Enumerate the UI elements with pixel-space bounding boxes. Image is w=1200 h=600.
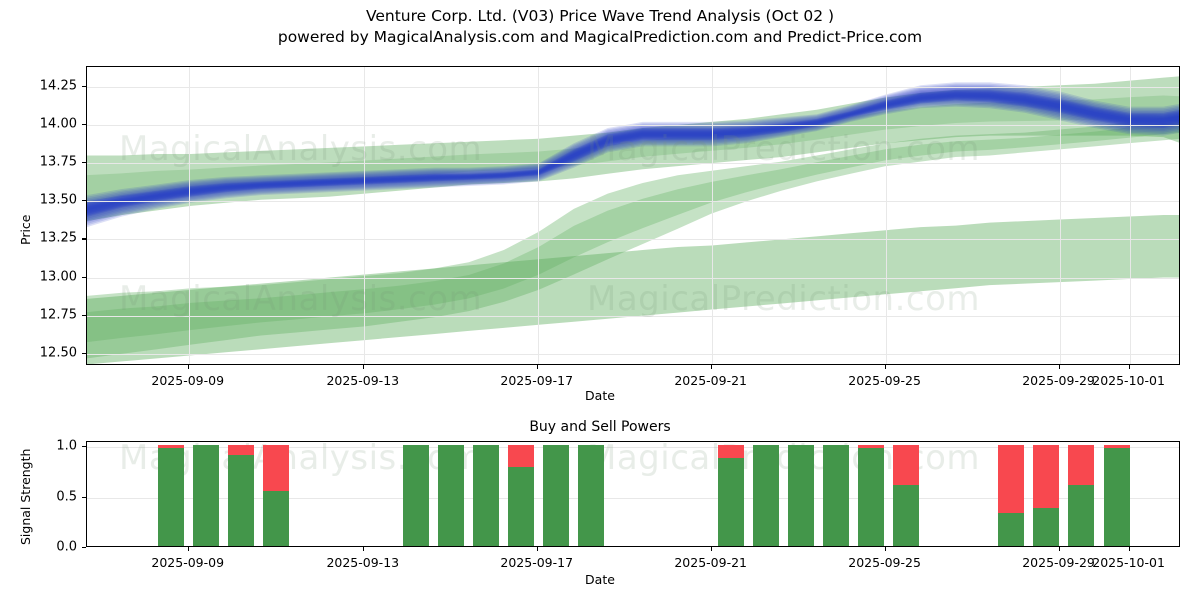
bar-buy-segment[interactable] [858, 448, 884, 546]
price-xtick-label: 2025-09-29 [1022, 373, 1095, 388]
bars-axis-y-title: Signal Strength [18, 449, 33, 545]
bars-ytick-label: 1.0 [56, 439, 77, 454]
bar-sell-segment[interactable] [263, 445, 289, 490]
bar-buy-segment[interactable] [1033, 508, 1059, 546]
price-xtick-mark [1059, 365, 1060, 369]
bar-buy-segment[interactable] [788, 445, 814, 546]
gridline-vertical [364, 67, 365, 364]
price-wave-bands [87, 67, 1180, 365]
screenshot-root: Venture Corp. Ltd. (V03) Price Wave Tren… [0, 0, 1200, 600]
gridline-vertical [189, 67, 190, 364]
price-axis-y-title: Price [18, 215, 33, 246]
bar-group[interactable] [1068, 442, 1094, 546]
bar-group[interactable] [578, 442, 604, 546]
gridline-vertical [1130, 67, 1131, 364]
gridline-horizontal [87, 201, 1179, 202]
price-ytick-label: 14.25 [40, 78, 77, 93]
price-ytick-label: 13.50 [40, 193, 77, 208]
bars-ytick-label: 0.5 [56, 489, 77, 504]
bars-xtick-mark [711, 547, 712, 551]
bars-xtick-label: 2025-09-29 [1022, 555, 1095, 570]
bars-xtick-mark [188, 547, 189, 551]
gridline-horizontal [87, 125, 1179, 126]
bar-buy-segment[interactable] [718, 458, 744, 546]
bars-xtick-label: 2025-09-13 [326, 555, 399, 570]
bar-group[interactable] [753, 442, 779, 546]
gridline-vertical [712, 67, 713, 364]
bar-buy-segment[interactable] [193, 445, 219, 546]
bar-group[interactable] [823, 442, 849, 546]
bar-group[interactable] [543, 442, 569, 546]
bar-sell-segment[interactable] [1104, 445, 1130, 448]
bar-group[interactable] [1104, 442, 1130, 546]
bar-sell-segment[interactable] [858, 445, 884, 448]
price-xtick-mark [885, 365, 886, 369]
bar-sell-segment[interactable] [1033, 445, 1059, 508]
bars-xtick-label: 2025-09-09 [151, 555, 224, 570]
bars-xtick-mark [1059, 547, 1060, 551]
buy-sell-plot-area: MagicalAnalysis.com MagicalPrediction.co… [86, 441, 1180, 547]
gridline-horizontal [87, 163, 1179, 164]
gridline-horizontal [87, 354, 1179, 355]
bar-group[interactable] [403, 442, 429, 546]
bars-xtick-mark [363, 547, 364, 551]
bar-buy-segment[interactable] [893, 485, 919, 546]
bar-sell-segment[interactable] [893, 445, 919, 485]
bar-group[interactable] [718, 442, 744, 546]
bar-sell-segment[interactable] [718, 445, 744, 458]
bars-ytick-label: 0.0 [56, 540, 77, 555]
bar-sell-segment[interactable] [228, 445, 254, 455]
bar-series-layer [87, 442, 1179, 546]
bar-buy-segment[interactable] [578, 445, 604, 546]
bar-sell-segment[interactable] [508, 445, 534, 467]
price-xtick-label: 2025-09-17 [500, 373, 573, 388]
bars-xtick-label: 2025-09-17 [500, 555, 573, 570]
bar-buy-segment[interactable] [438, 445, 464, 546]
bars-xtick-label: 2025-09-21 [674, 555, 747, 570]
bar-group[interactable] [858, 442, 884, 546]
price-xtick-label: 2025-09-13 [326, 373, 399, 388]
bar-group[interactable] [788, 442, 814, 546]
bars-axis-x-title: Date [0, 572, 1200, 587]
price-ytick-label: 13.00 [40, 269, 77, 284]
bar-buy-segment[interactable] [158, 448, 184, 546]
buy-sell-title: Buy and Sell Powers [0, 419, 1200, 435]
price-xtick-mark [537, 365, 538, 369]
bar-buy-segment[interactable] [753, 445, 779, 546]
price-xtick-mark [711, 365, 712, 369]
bar-buy-segment[interactable] [473, 445, 499, 546]
price-xtick-mark [363, 365, 364, 369]
bar-sell-segment[interactable] [158, 445, 184, 448]
bar-group[interactable] [438, 442, 464, 546]
bar-buy-segment[interactable] [1068, 485, 1094, 546]
gridline-horizontal [87, 316, 1179, 317]
buy-sell-panel: Buy and Sell Powers Signal Strength 0.00… [0, 405, 1200, 600]
bars-ytick-mark [82, 547, 86, 548]
price-wave-panel: Price 12.5012.7513.0013.2513.5013.7514.0… [0, 0, 1200, 405]
price-xtick-mark [1129, 365, 1130, 369]
bar-group[interactable] [158, 442, 184, 546]
bar-buy-segment[interactable] [998, 513, 1024, 546]
bar-group[interactable] [1033, 442, 1059, 546]
price-ytick-label: 13.75 [40, 155, 77, 170]
gridline-vertical [1060, 67, 1061, 364]
bar-buy-segment[interactable] [508, 467, 534, 546]
price-ytick-label: 12.75 [40, 307, 77, 322]
bar-buy-segment[interactable] [263, 491, 289, 547]
price-ytick-label: 14.00 [40, 116, 77, 131]
bar-group[interactable] [893, 442, 919, 546]
bar-sell-segment[interactable] [998, 445, 1024, 513]
bar-buy-segment[interactable] [228, 455, 254, 546]
bar-buy-segment[interactable] [403, 445, 429, 546]
bar-group[interactable] [228, 442, 254, 546]
bars-xtick-mark [885, 547, 886, 551]
gridline-vertical [538, 67, 539, 364]
price-xtick-mark [188, 365, 189, 369]
price-xtick-label: 2025-09-09 [151, 373, 224, 388]
bar-sell-segment[interactable] [1068, 445, 1094, 485]
price-axis-x-title: Date [0, 388, 1200, 403]
bars-xtick-label: 2025-10-01 [1092, 555, 1165, 570]
bars-xtick-mark [1129, 547, 1130, 551]
bar-group[interactable] [193, 442, 219, 546]
bar-group[interactable] [263, 442, 289, 546]
price-ytick-label: 12.50 [40, 345, 77, 360]
bars-xtick-label: 2025-09-25 [848, 555, 921, 570]
bar-group[interactable] [998, 442, 1024, 546]
bar-buy-segment[interactable] [543, 445, 569, 546]
price-ytick-label: 13.25 [40, 231, 77, 246]
price-plot-area: MagicalAnalysis.com MagicalPrediction.co… [86, 66, 1180, 365]
bar-group[interactable] [473, 442, 499, 546]
bar-buy-segment[interactable] [823, 445, 849, 546]
gridline-horizontal [87, 278, 1179, 279]
gridline-horizontal [87, 87, 1179, 88]
gridline-vertical [886, 67, 887, 364]
bar-group[interactable] [508, 442, 534, 546]
price-xtick-label: 2025-10-01 [1092, 373, 1165, 388]
bars-xtick-mark [537, 547, 538, 551]
bar-buy-segment[interactable] [1104, 448, 1130, 546]
price-xtick-label: 2025-09-21 [674, 373, 747, 388]
price-xtick-label: 2025-09-25 [848, 373, 921, 388]
gridline-horizontal [87, 239, 1179, 240]
